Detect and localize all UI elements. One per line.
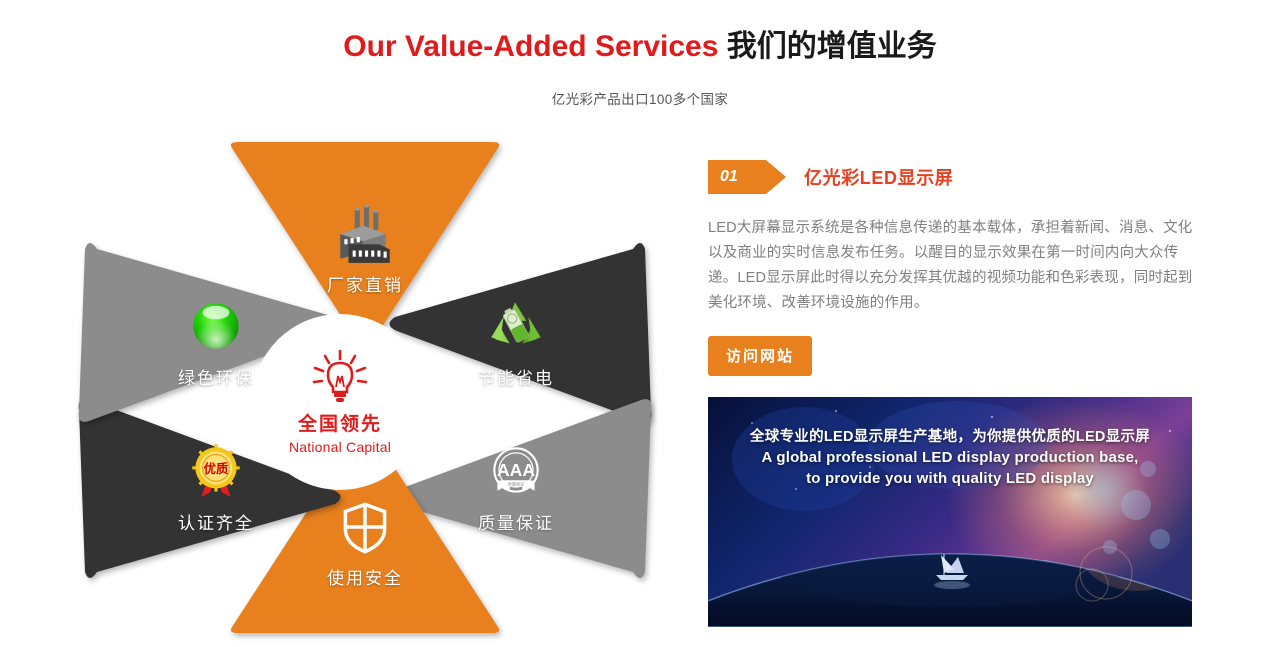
value-hexagon-diagram: 厂家直销 节能省电 bbox=[60, 140, 670, 635]
item-title: 亿光彩LED显示屏 bbox=[804, 164, 953, 190]
page-subtitle: 亿光彩产品出口100多个国家 bbox=[0, 88, 1280, 108]
item-number-badge: 01 bbox=[708, 160, 766, 194]
page-title-cn: 我们的增值业务 bbox=[727, 30, 937, 63]
banner-text-block: 全球专业的LED显示屏生产基地，为你提供优质的LED显示屏 A global p… bbox=[708, 427, 1192, 489]
visit-website-button[interactable]: 访问网站 bbox=[708, 336, 812, 376]
hexagon-center-en: National Capital bbox=[289, 439, 391, 455]
hexagon-center: 全国领先 National Capital bbox=[252, 314, 428, 490]
item-description: LED大屏幕显示系统是各种信息传递的基本载体，承担着新闻、消息、文化以及商业的实… bbox=[708, 216, 1198, 316]
hexagon-center-cn: 全国领先 bbox=[298, 413, 382, 437]
page-title-en: Our Value-Added Services bbox=[343, 30, 718, 63]
banner-line-en2: to provide you with quality LED display bbox=[708, 468, 1192, 489]
service-detail-panel: 01 亿光彩LED显示屏 LED大屏幕显示系统是各种信息传递的基本载体，承担着新… bbox=[708, 160, 1198, 376]
banner-line-cn: 全球专业的LED显示屏生产基地，为你提供优质的LED显示屏 bbox=[708, 427, 1192, 447]
promo-banner[interactable]: 全球专业的LED显示屏生产基地，为你提供优质的LED显示屏 A global p… bbox=[708, 397, 1192, 627]
page-title: Our Value-Added Services 我们的增值业务 bbox=[0, 32, 1280, 62]
lightbulb-icon bbox=[309, 349, 371, 407]
service-item-header: 01 亿光彩LED显示屏 bbox=[708, 160, 1198, 194]
banner-line-en1: A global professional LED display produc… bbox=[708, 447, 1192, 468]
